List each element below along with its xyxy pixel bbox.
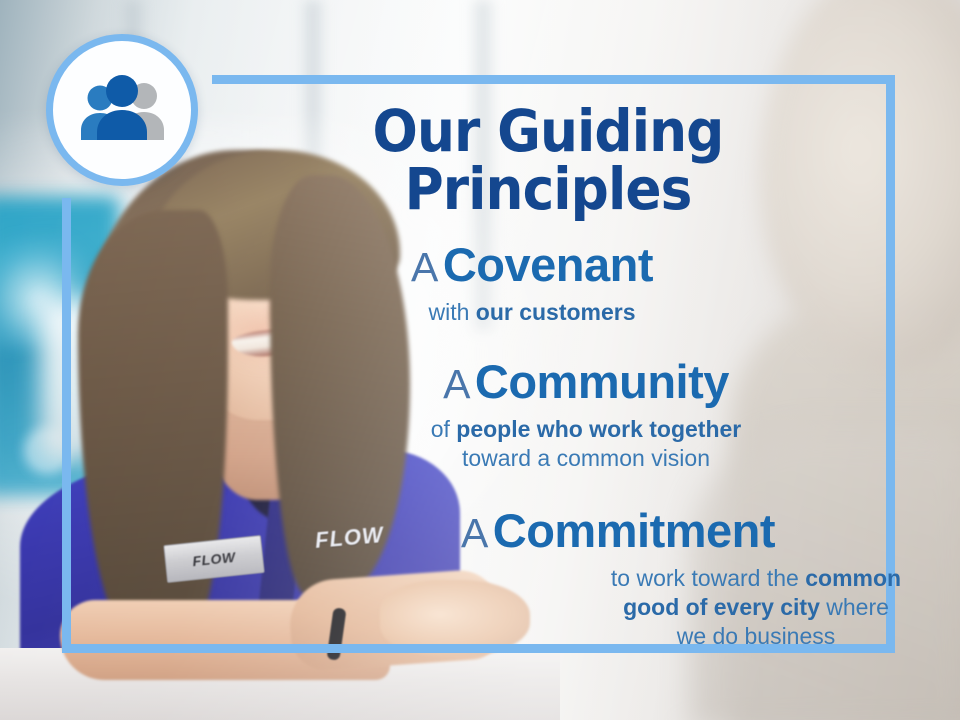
text-content: Our Guiding Principles A Covenant with o… bbox=[210, 84, 886, 652]
principle-heading-line: A Commitment bbox=[280, 506, 956, 557]
principle-article: A bbox=[461, 510, 488, 556]
principle-article: A bbox=[443, 361, 470, 407]
principle-subtext-line: we do business bbox=[556, 622, 956, 651]
principle-subtext: of people who work togethertoward a comm… bbox=[248, 415, 924, 474]
page-title: Our Guiding Principles bbox=[237, 102, 859, 218]
principle-keyword: Commitment bbox=[493, 504, 775, 557]
subtext-plain: with bbox=[428, 299, 475, 325]
subtext-plain: to work toward the bbox=[611, 565, 805, 591]
subtext-plain: we do business bbox=[677, 623, 836, 649]
principle-heading-line: A Community bbox=[248, 357, 924, 408]
people-group-icon bbox=[72, 74, 172, 146]
people-group-badge bbox=[46, 34, 198, 186]
subtext-emphasis: people who work together bbox=[456, 416, 741, 442]
principle-covenant: A Covenant with our customers bbox=[194, 240, 870, 327]
principle-subtext-line: to work toward the common bbox=[556, 564, 956, 593]
guiding-principles-graphic: FLOW FLOW Our Guiding Principles A Coven… bbox=[0, 0, 960, 720]
principle-community: A Community of people who work togethert… bbox=[248, 357, 924, 474]
subtext-emphasis: common bbox=[805, 565, 901, 591]
principle-subtext: to work toward the commongood of every c… bbox=[556, 564, 956, 652]
subtext-emphasis: good of every city bbox=[623, 594, 820, 620]
principle-commitment: A Commitment to work toward the commongo… bbox=[280, 506, 956, 652]
principle-article: A bbox=[411, 244, 438, 290]
principle-keyword: Community bbox=[475, 355, 729, 408]
principle-subtext: with our customers bbox=[194, 298, 870, 327]
frame-border-top bbox=[212, 75, 895, 84]
principle-subtext-line: with our customers bbox=[194, 298, 870, 327]
principle-subtext-line: toward a common vision bbox=[248, 444, 924, 473]
subtext-plain: of bbox=[431, 416, 457, 442]
subtext-plain: where bbox=[820, 594, 889, 620]
principle-subtext-line: good of every city where bbox=[556, 593, 956, 622]
frame-border-left bbox=[62, 198, 71, 653]
subtext-plain: toward a common vision bbox=[462, 445, 710, 471]
subtext-emphasis: our customers bbox=[476, 299, 636, 325]
principle-subtext-line: of people who work together bbox=[248, 415, 924, 444]
principle-heading-line: A Covenant bbox=[194, 240, 870, 291]
principle-keyword: Covenant bbox=[443, 238, 653, 291]
